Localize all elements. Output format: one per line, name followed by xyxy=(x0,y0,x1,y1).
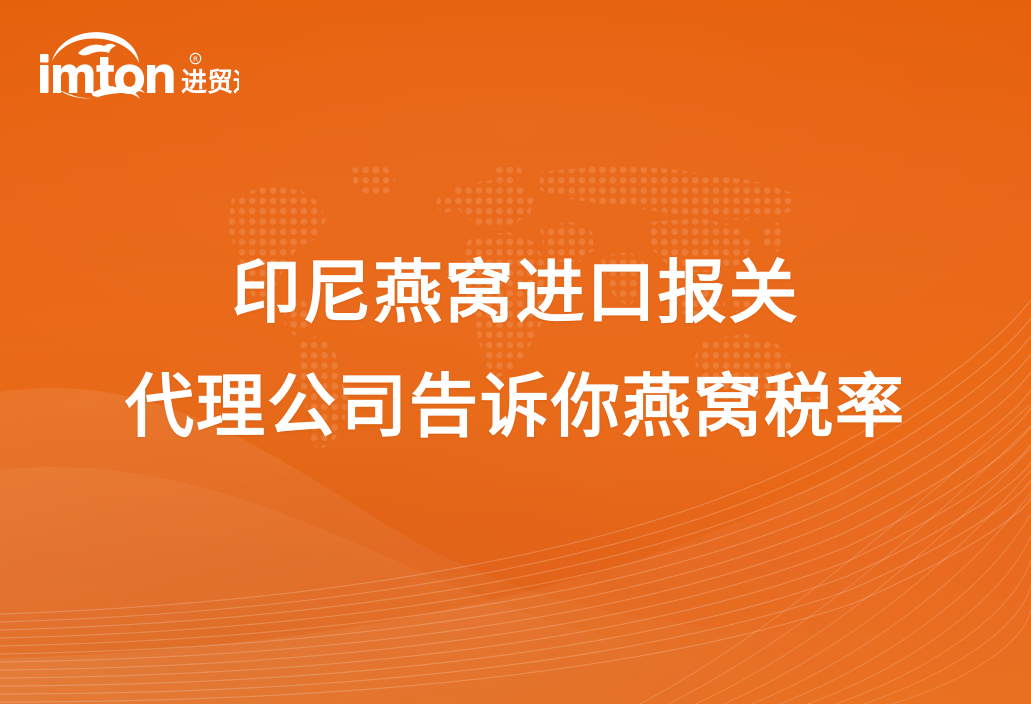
headline: 印尼燕窝进口报关 代理公司告诉你燕窝税率 xyxy=(0,236,1031,464)
eagle-icon xyxy=(78,44,116,56)
brand-logo[interactable]: 进贸通 R xyxy=(34,27,239,103)
headline-line-1: 印尼燕窝进口报关 xyxy=(0,236,1031,350)
logo-wordmark xyxy=(40,54,174,94)
headline-line-2: 代理公司告诉你燕窝税率 xyxy=(0,350,1031,464)
svg-text:R: R xyxy=(193,56,198,64)
promo-banner: 进贸通 R 印尼燕窝进口报关 代理公司告诉你燕窝税率 xyxy=(0,0,1031,704)
registered-trademark-icon: R xyxy=(190,53,200,63)
logo-chinese-name: 进贸通 xyxy=(181,68,239,98)
